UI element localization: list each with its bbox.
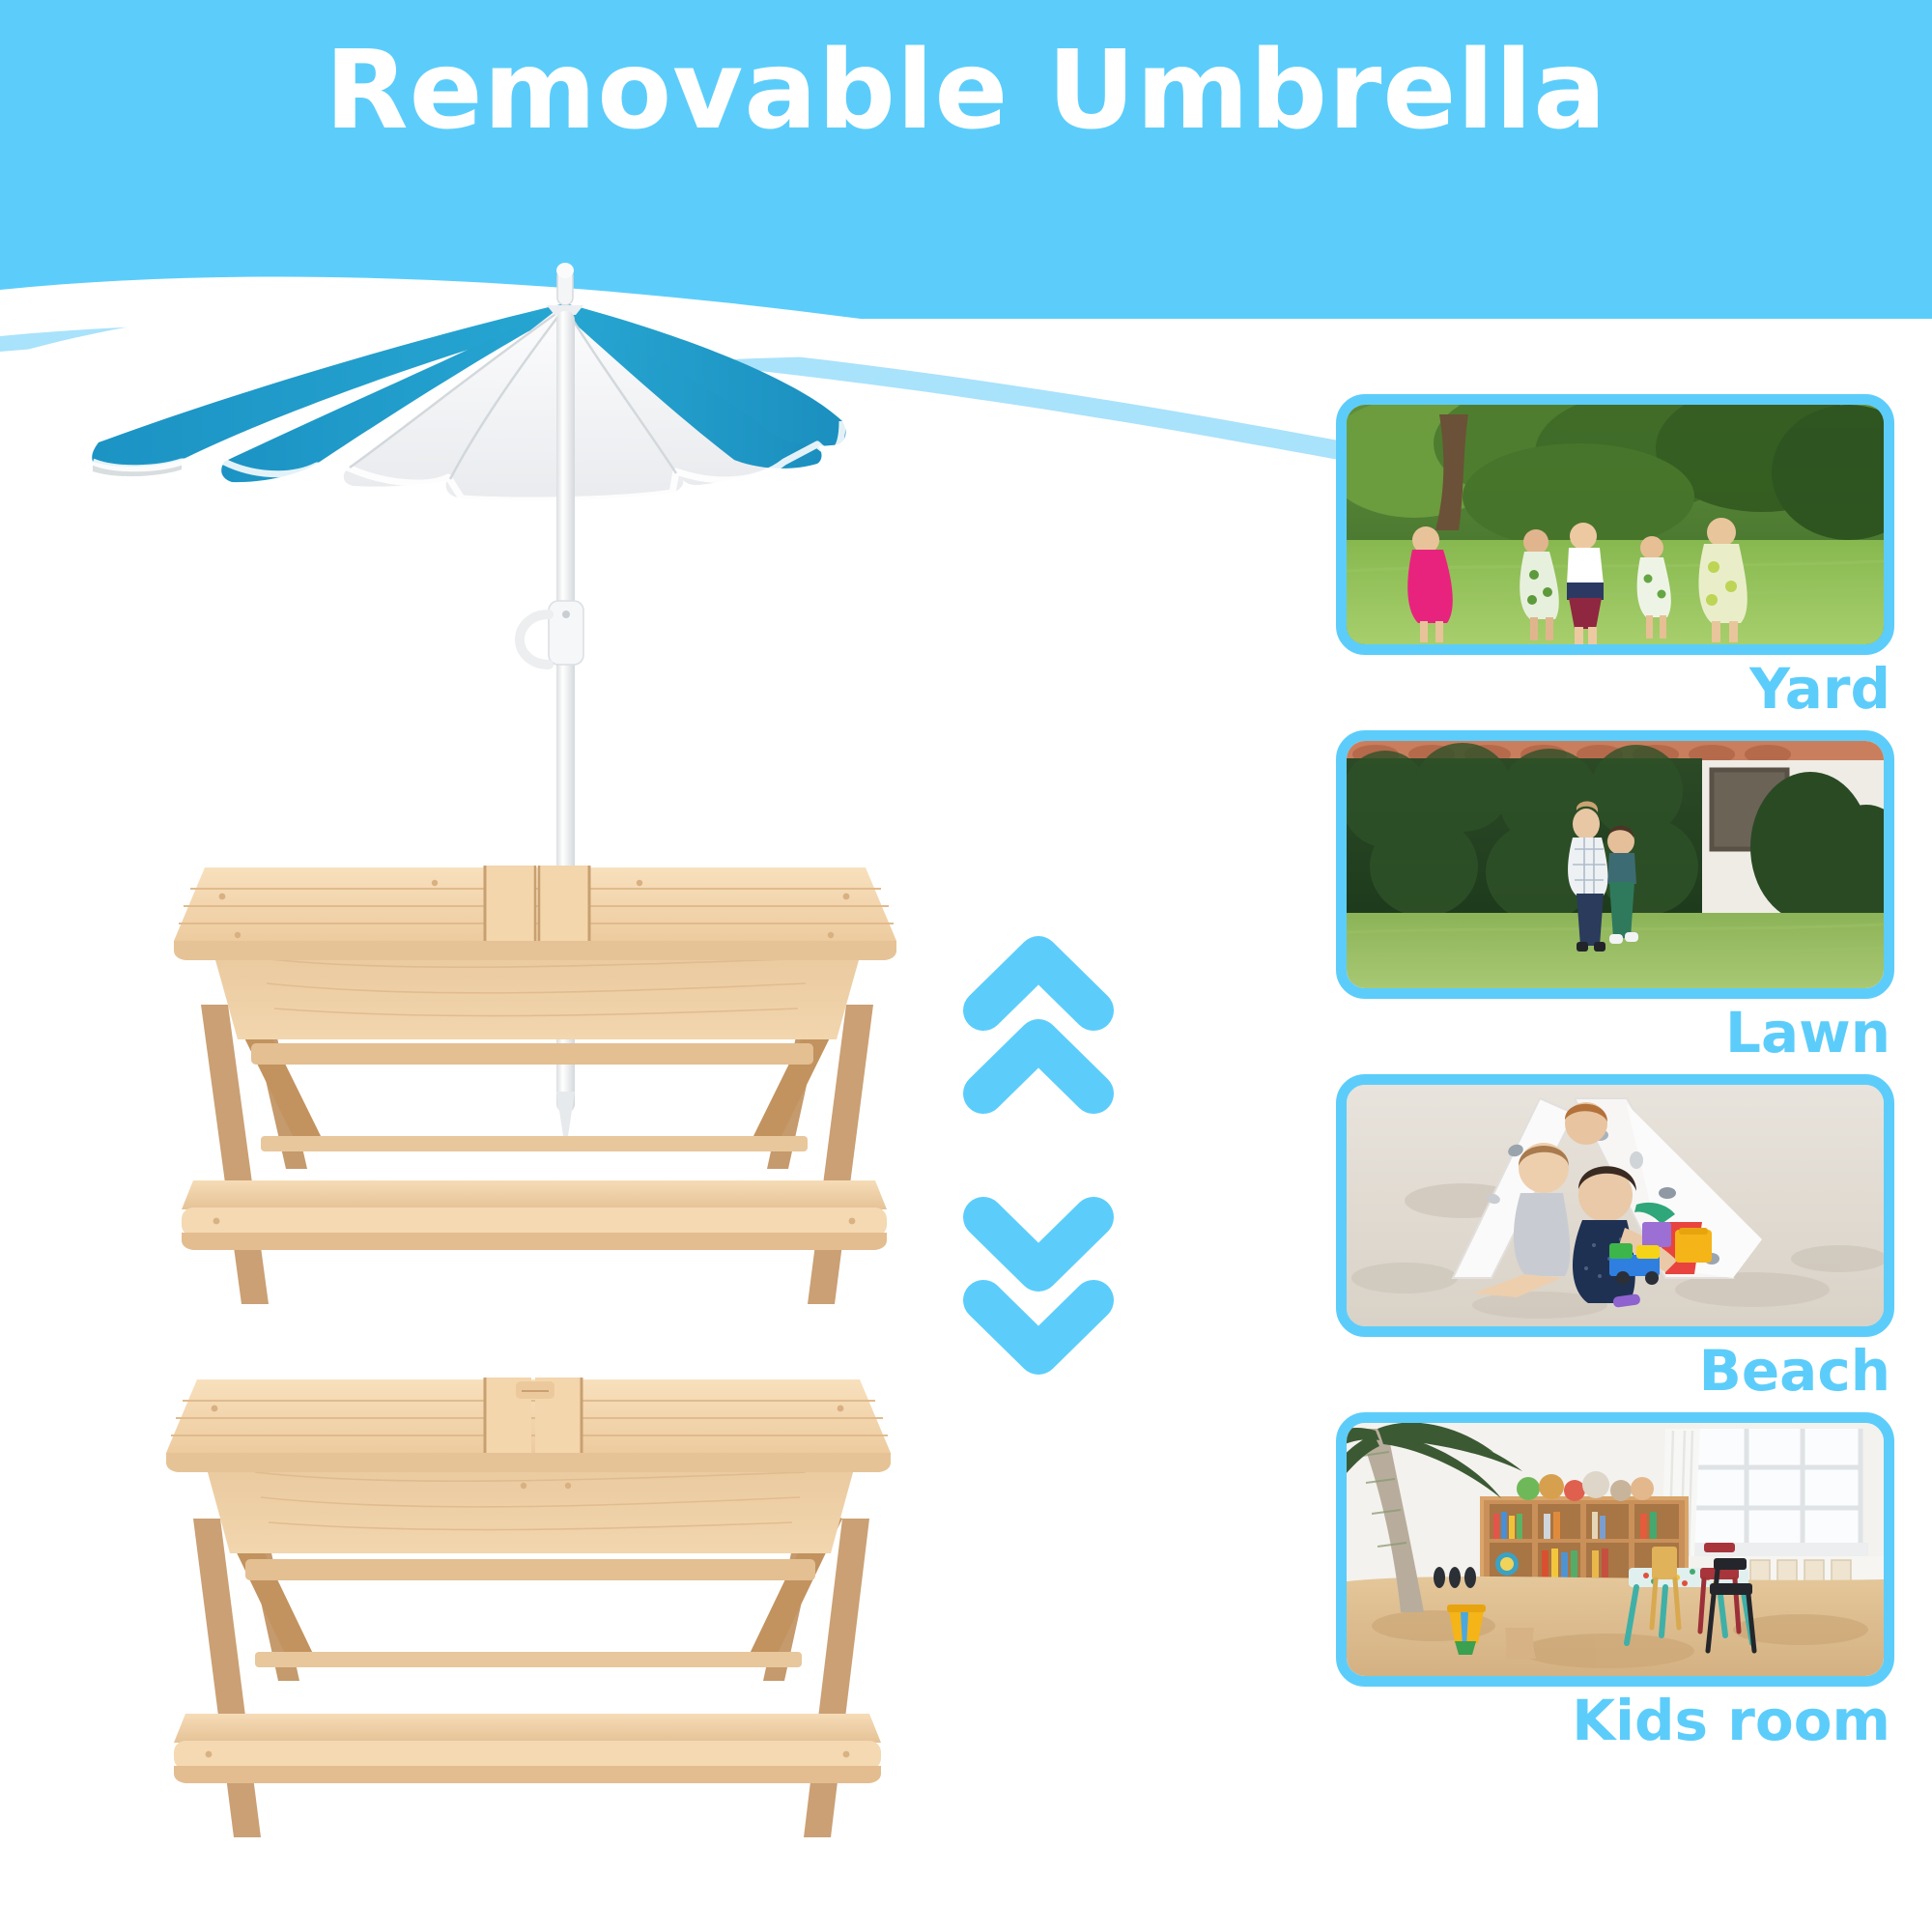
scene-card-yard[interactable]: Yard (1336, 394, 1896, 717)
chevron-down-indicator (956, 1188, 1121, 1381)
scene-photo-kids-room (1336, 1412, 1894, 1687)
picnic-table-with-umbrella (145, 850, 918, 1333)
product-infographic: Removable Umbrella (0, 0, 1932, 1932)
scene-label-yard: Yard (1336, 661, 1896, 717)
scene-photo-beach (1336, 1074, 1894, 1337)
scene-card-list: Yard (1336, 394, 1896, 1762)
scene-photo-yard (1336, 394, 1894, 655)
umbrella-pole-clamp (520, 601, 583, 665)
scene-label-lawn: Lawn (1336, 1005, 1896, 1061)
scene-photo-lawn (1336, 730, 1894, 999)
umbrella-finial (547, 263, 583, 315)
scene-card-kids-room[interactable]: Kids room (1336, 1412, 1896, 1748)
umbrella-canopy (92, 303, 845, 500)
picnic-table-umbrella-removed (126, 1352, 918, 1893)
chevron-down-icon (983, 1217, 1094, 1271)
scene-label-kids-room: Kids room (1336, 1692, 1896, 1748)
scene-card-beach[interactable]: Beach (1336, 1074, 1896, 1399)
page-title: Removable Umbrella (0, 35, 1932, 149)
chevron-down-icon (983, 1300, 1094, 1354)
chevron-up-indicator (956, 927, 1121, 1121)
chevron-up-icon (983, 1039, 1094, 1094)
chevron-up-icon (983, 956, 1094, 1010)
scene-label-beach: Beach (1336, 1343, 1896, 1399)
scene-card-lawn[interactable]: Lawn (1336, 730, 1896, 1061)
